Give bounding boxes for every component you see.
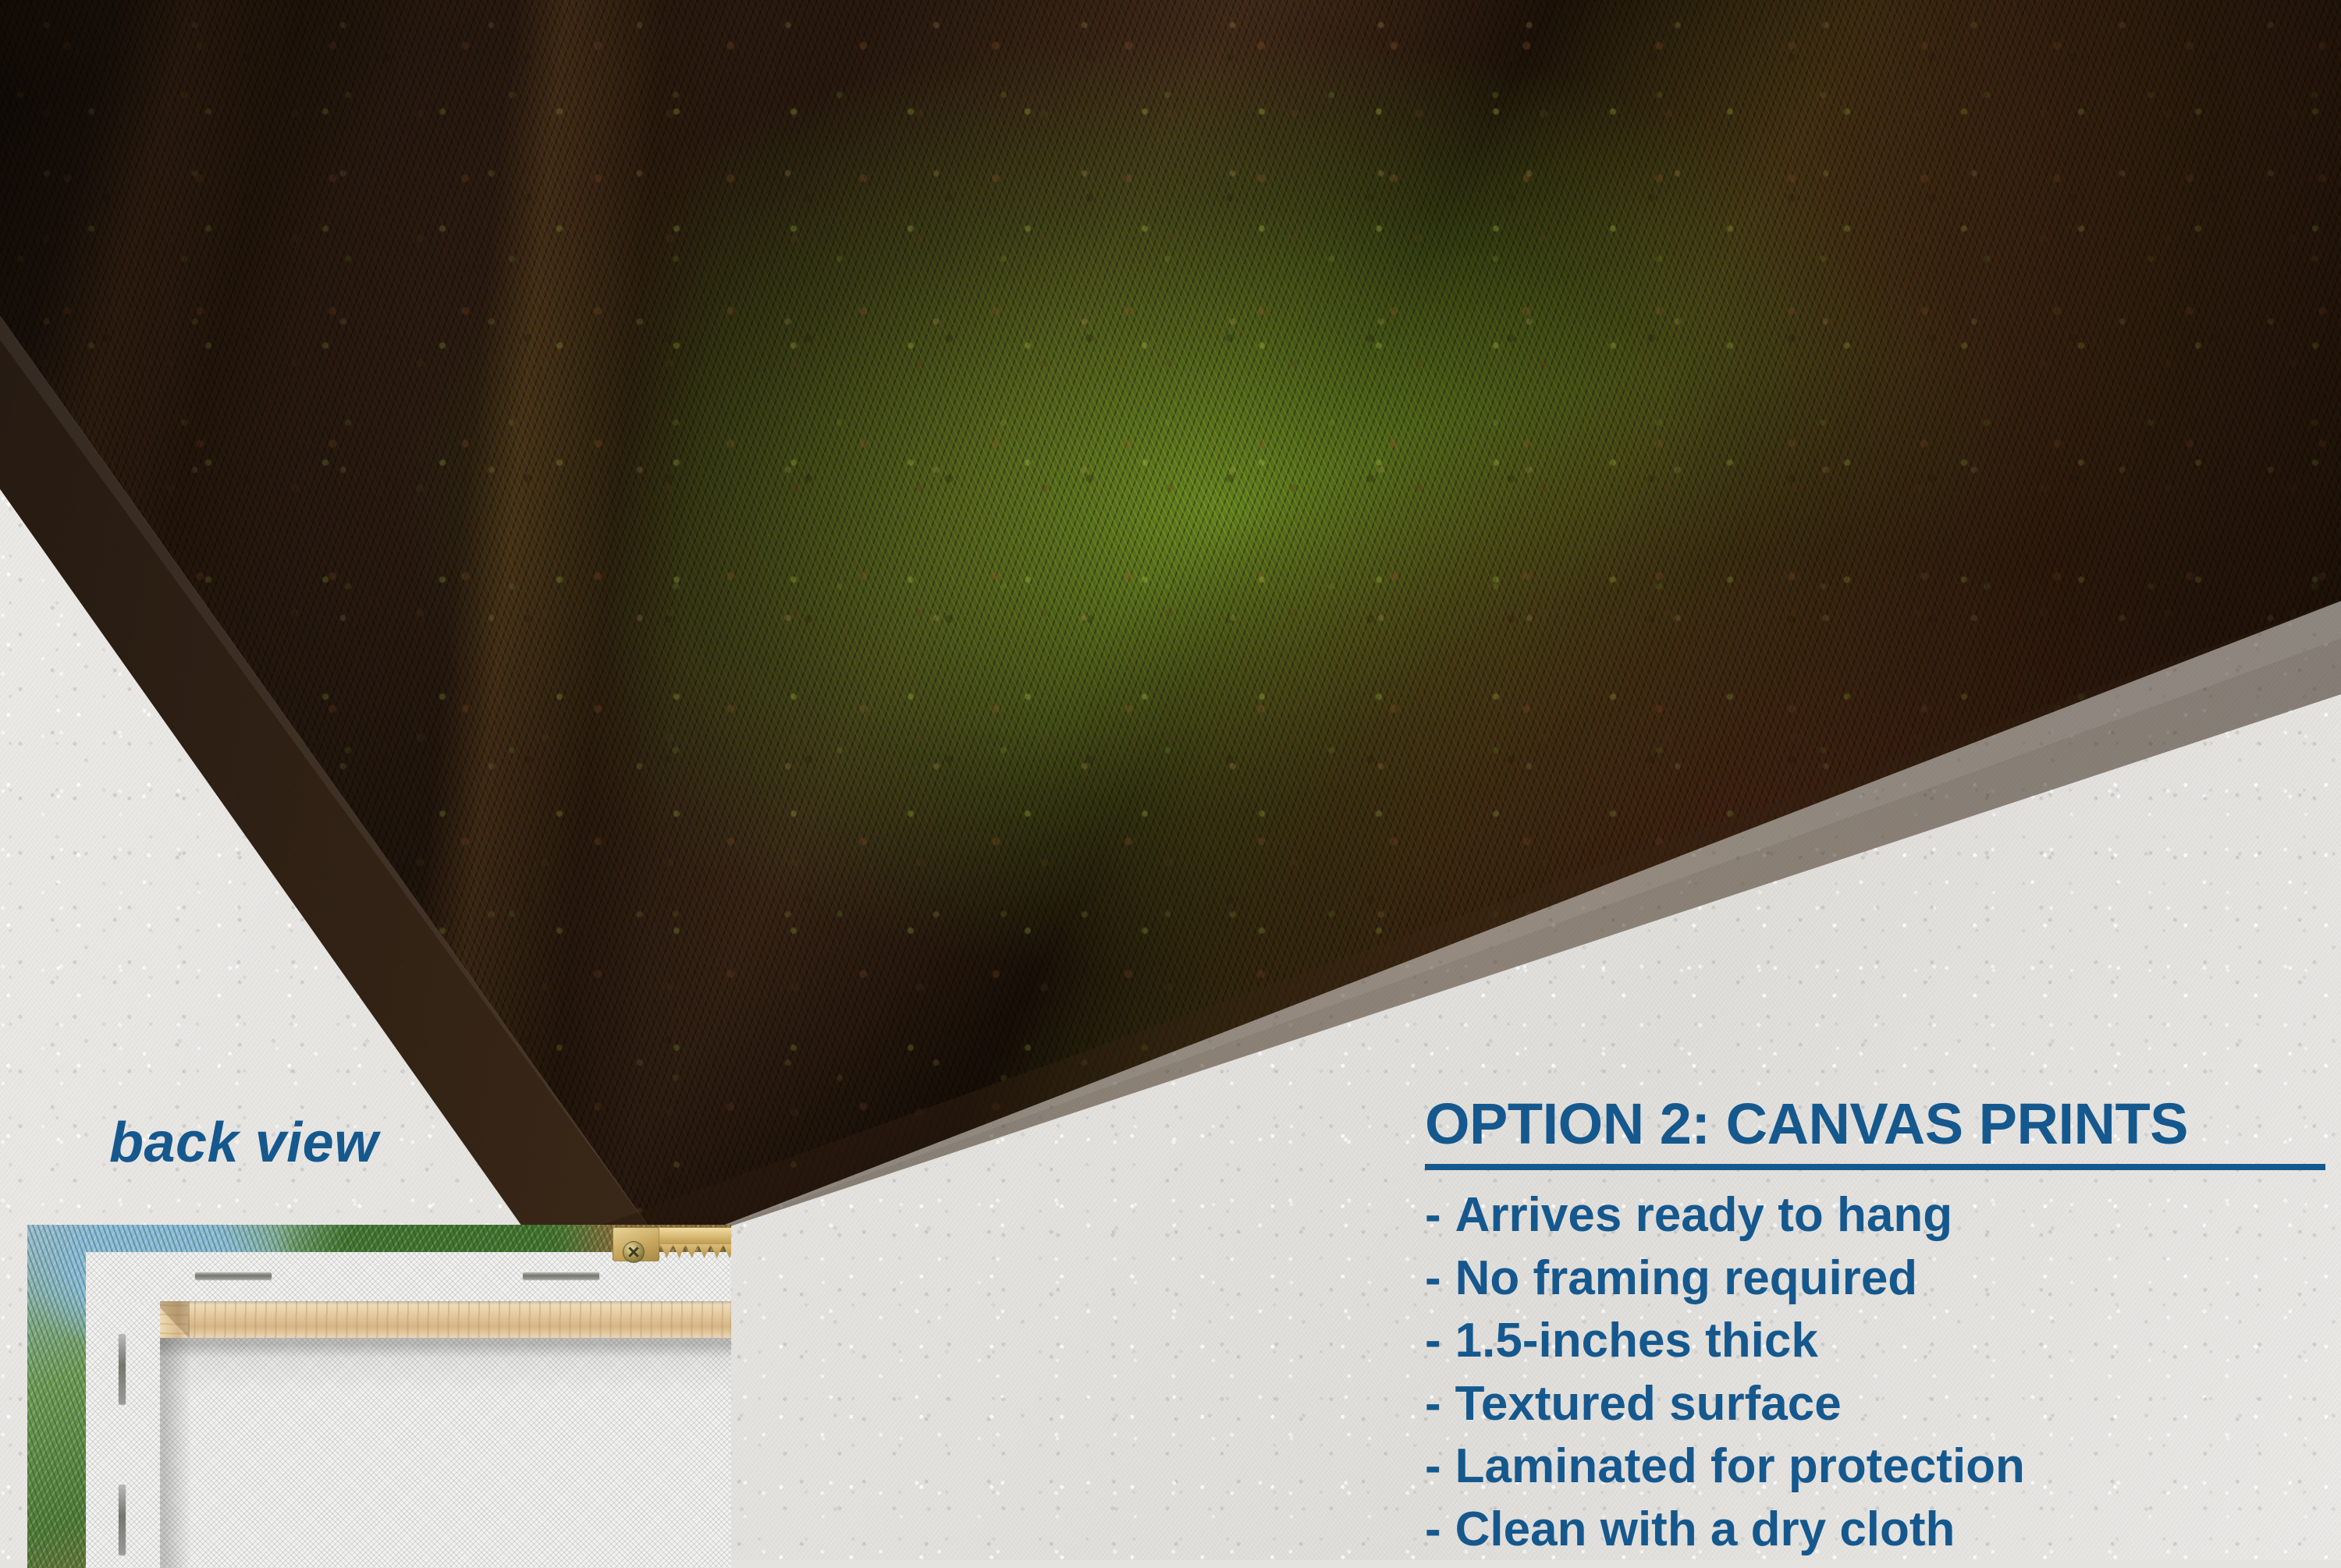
bullet-dash: - <box>1425 1435 1441 1499</box>
feature-item: - Laminated for protection <box>1425 1435 2330 1499</box>
hanger-bar <box>656 1227 731 1247</box>
feature-list: - Arrives ready to hang - No framing req… <box>1425 1184 2330 1562</box>
spec-title-underline <box>1425 1164 2325 1170</box>
bullet-dash: - <box>1425 1373 1441 1436</box>
feature-item: - Textured surface <box>1425 1373 2330 1436</box>
hanger-screw-plate <box>613 1227 659 1261</box>
feature-label: Clean with a dry cloth <box>1455 1499 1956 1562</box>
staple-icon <box>119 1485 126 1555</box>
feature-item: - Arrives ready to hang <box>1425 1184 2330 1247</box>
bullet-dash: - <box>1425 1499 1441 1562</box>
staple-icon <box>523 1272 599 1279</box>
back-view-label: back view <box>109 1111 378 1175</box>
feature-item: - No framing required <box>1425 1247 2330 1311</box>
back-view-thumbnail <box>27 1225 731 1568</box>
feature-item: - Clean with a dry cloth <box>1425 1499 2330 1562</box>
feature-label: Laminated for protection <box>1455 1435 2025 1499</box>
canvas-back-left-flap <box>86 1301 160 1568</box>
hanger-teeth <box>656 1244 731 1258</box>
brass-screw-icon <box>623 1241 645 1263</box>
spec-panel: OPTION 2: CANVAS PRINTS - Arrives ready … <box>1425 1095 2330 1562</box>
stretcher-bar-top <box>154 1301 731 1339</box>
spec-title: OPTION 2: CANVAS PRINTS <box>1425 1095 2330 1153</box>
feature-item: - 1.5-inches thick <box>1425 1310 2330 1373</box>
bullet-dash: - <box>1425 1247 1441 1311</box>
feature-label: Arrives ready to hang <box>1455 1184 1952 1247</box>
bullet-dash: - <box>1425 1310 1441 1373</box>
feature-label: No framing required <box>1455 1247 1918 1311</box>
sawtooth-hanger-icon <box>613 1225 731 1268</box>
staple-icon <box>195 1272 272 1279</box>
bullet-dash: - <box>1425 1184 1441 1247</box>
feature-label: Textured surface <box>1455 1373 1842 1436</box>
canvas-back-inner-shadow <box>160 1338 731 1568</box>
staple-icon <box>119 1334 126 1404</box>
feature-label: 1.5-inches thick <box>1455 1310 1818 1373</box>
